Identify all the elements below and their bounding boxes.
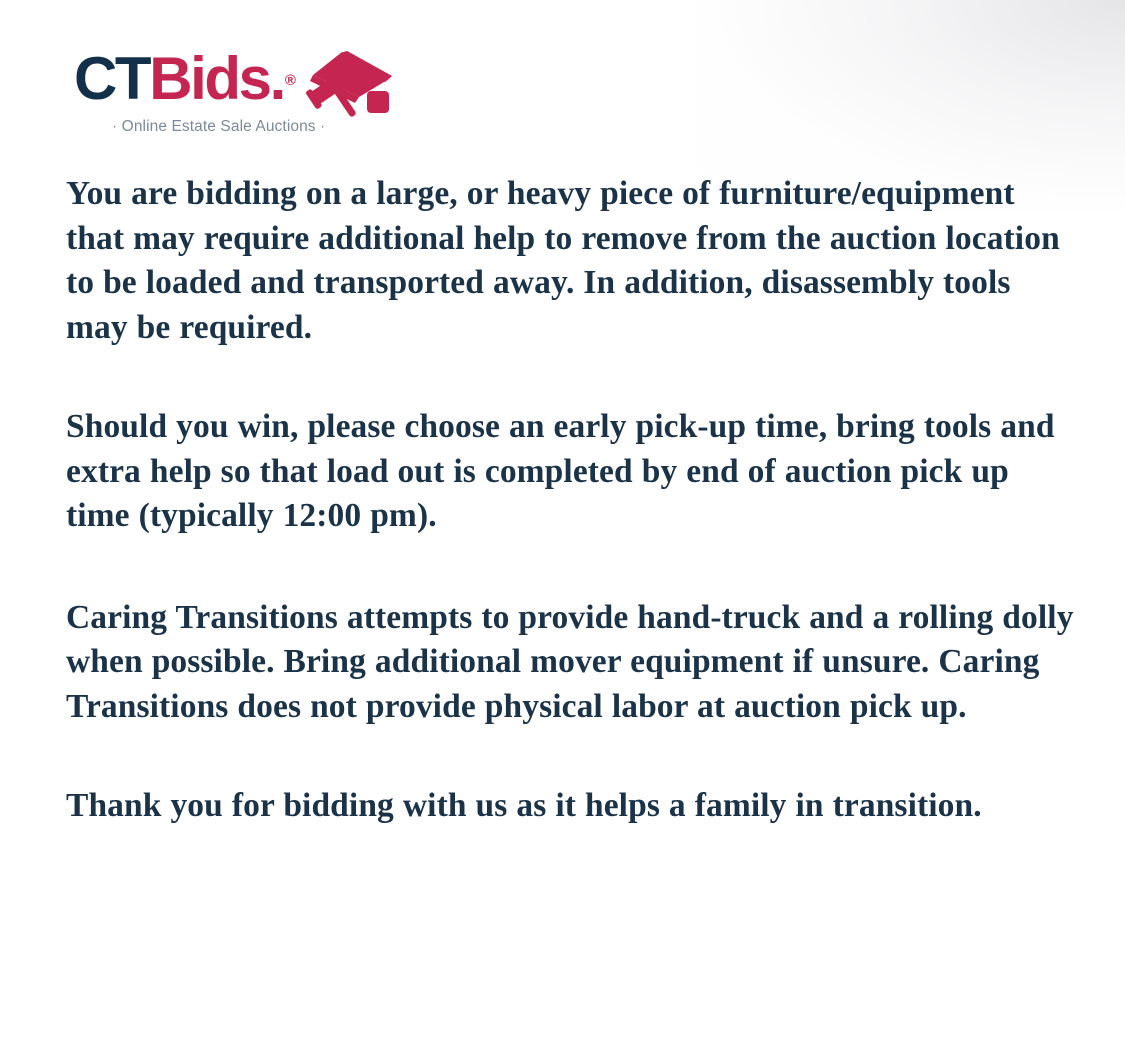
house-roof-gavel-icon xyxy=(297,50,395,120)
registered-trademark-icon: ® xyxy=(285,73,296,88)
notice-paragraph-2: Should you win, please choose an early p… xyxy=(66,405,1076,539)
logo-wordmark: CTBids.® xyxy=(74,48,295,110)
ctbids-logo[interactable]: CTBids.® · xyxy=(74,48,414,136)
notice-paragraph-4: Thank you for bidding with us as it help… xyxy=(66,784,1076,829)
logo-tagline: · Online Estate Sale Auctions · xyxy=(112,118,414,136)
logo-text-bids: Bids xyxy=(149,48,269,110)
logo-text-ct: CT xyxy=(74,48,149,110)
notice-paragraph-1: You are bidding on a large, or heavy pie… xyxy=(66,172,1076,350)
notice-page: CTBids.® · xyxy=(0,0,1125,1064)
notice-body: You are bidding on a large, or heavy pie… xyxy=(66,172,1076,829)
logo-row: CTBids.® xyxy=(74,48,414,114)
logo-text-period: . xyxy=(270,48,284,110)
notice-paragraph-3: Caring Transitions attempts to provide h… xyxy=(66,596,1076,730)
